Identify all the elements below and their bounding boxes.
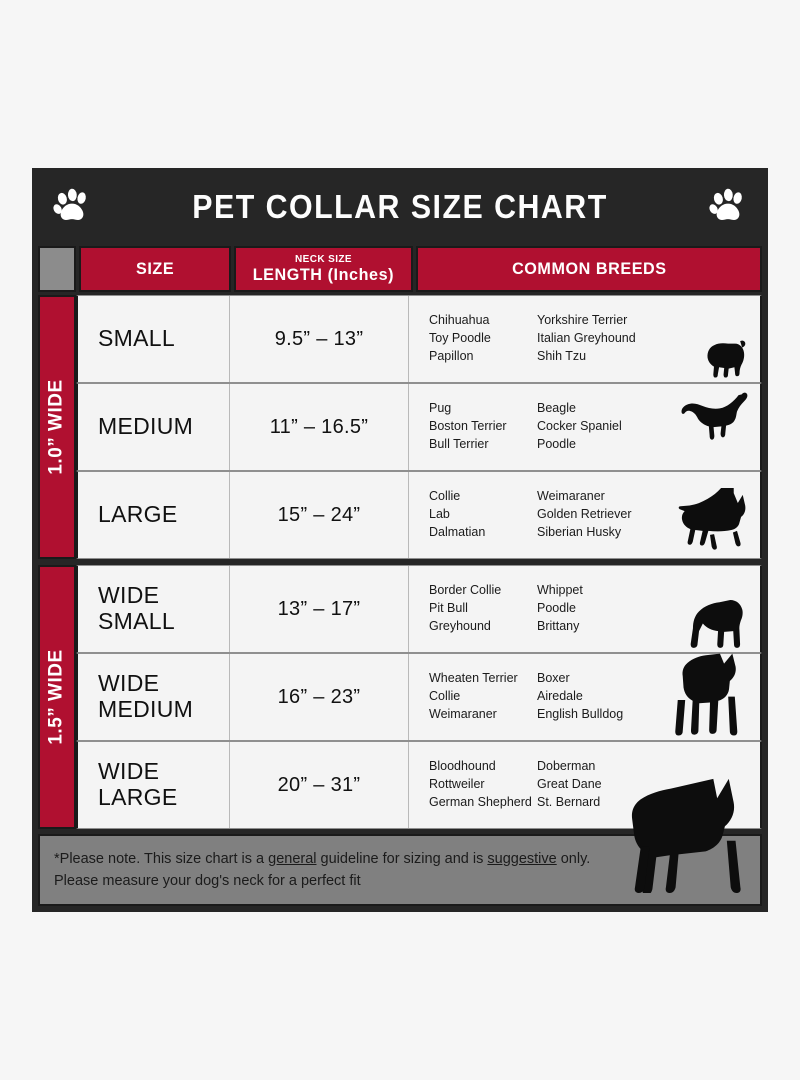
size-chart-card: PET COLLAR SIZE CHART SIZE: [32, 168, 768, 912]
length-value: 15” – 24”: [278, 504, 361, 527]
breed-item: Yorkshire Terrier: [537, 312, 636, 330]
breed-item: English Bulldog: [537, 706, 623, 724]
beagle-silhouette-icon: [666, 374, 758, 470]
footer-underline-suggestive: suggestive: [487, 851, 556, 867]
breed-column-1: Wheaten Terrier Collie Weimaraner: [429, 670, 537, 723]
section-rows-1-5-wide: WIDE SMALL 13” – 17” Border Collie Pit B…: [76, 565, 762, 829]
breed-column-2: Boxer Airedale English Bulldog: [537, 670, 623, 723]
length-value: 11” – 16.5”: [270, 416, 369, 439]
breed-item: Bloodhound: [429, 758, 537, 776]
chart-header: PET COLLAR SIZE CHART: [32, 168, 768, 246]
cell-breeds: Border Collie Pit Bull Greyhound Whippet…: [409, 566, 760, 652]
breed-item: Shih Tzu: [537, 348, 636, 366]
size-table: SIZE NECK SIZE LENGTH (Inches) COMMON BR…: [32, 246, 768, 829]
paw-print-icon: [706, 185, 750, 229]
breed-item: Collie: [429, 488, 537, 506]
breed-item: Cocker Spaniel: [537, 418, 622, 436]
footer-line-2: Please measure your dog's neck for a per…: [54, 870, 746, 892]
cell-length: 9.5” – 13”: [230, 296, 409, 382]
breed-item: Airedale: [537, 688, 623, 706]
footer-line1-part-c: only.: [557, 851, 591, 867]
breed-item: Chihuahua: [429, 312, 537, 330]
table-row[interactable]: WIDE LARGE 20” – 31” Bloodhound Rottweil…: [76, 741, 762, 829]
breed-item: Lab: [429, 506, 537, 524]
breed-item: Siberian Husky: [537, 524, 632, 542]
column-header-length: NECK SIZE LENGTH (Inches): [234, 246, 413, 292]
breed-item: Brittany: [537, 618, 583, 636]
table-row[interactable]: WIDE SMALL 13” – 17” Border Collie Pit B…: [76, 565, 762, 653]
footer-note: *Please note. This size chart is a gener…: [38, 834, 762, 906]
cell-size: LARGE: [78, 472, 230, 558]
size-label-line2: MEDIUM: [98, 697, 193, 723]
column-header-breeds-label: COMMON BREEDS: [512, 260, 667, 277]
breed-column-1: Border Collie Pit Bull Greyhound: [429, 582, 537, 635]
breed-item: Weimaraner: [537, 488, 632, 506]
length-value: 13” – 17”: [278, 598, 361, 621]
table-row[interactable]: LARGE 15” – 24” Collie Lab Dalmatian: [76, 471, 762, 559]
section-1-0-wide: 1.0” WIDE SMALL 9.5” – 13” Chihuahu: [38, 295, 762, 559]
breed-item: Dalmatian: [429, 524, 537, 542]
breed-column-2: Whippet Poodle Brittany: [537, 582, 583, 635]
size-label-line2: LARGE: [98, 785, 177, 811]
cell-size: WIDE SMALL: [78, 566, 230, 652]
page-root: PET COLLAR SIZE CHART SIZE: [0, 0, 800, 1080]
breed-column-1: Chihuahua Toy Poodle Papillon: [429, 312, 537, 365]
breed-item: Greyhound: [429, 618, 537, 636]
cell-breeds: Pug Boston Terrier Bull Terrier Beagle C…: [409, 384, 760, 470]
cell-size: SMALL: [78, 296, 230, 382]
size-label: MEDIUM: [98, 414, 193, 440]
cell-length: 11” – 16.5”: [230, 384, 409, 470]
breed-column-2: Beagle Cocker Spaniel Poodle: [537, 400, 622, 453]
column-header-breeds: COMMON BREEDS: [416, 246, 762, 292]
breed-item: Weimaraner: [429, 706, 537, 724]
footer-underline-general: general: [268, 851, 316, 867]
cell-size: WIDE LARGE: [78, 742, 230, 828]
breed-item: Italian Greyhound: [537, 330, 636, 348]
breed-item: Papillon: [429, 348, 537, 366]
cell-breeds: Wheaten Terrier Collie Weimaraner Boxer …: [409, 654, 760, 740]
breed-item: Wheaten Terrier: [429, 670, 537, 688]
shepherd-silhouette-icon: [662, 468, 758, 558]
breed-item: Rottweiler: [429, 776, 537, 794]
breed-column-2: Weimaraner Golden Retriever Siberian Hus…: [537, 488, 632, 541]
rail-label-1-5-wide: 1.5” WIDE: [46, 649, 68, 744]
size-label: WIDE: [98, 759, 159, 785]
breed-item: Collie: [429, 688, 537, 706]
breed-column-2: Doberman Great Dane St. Bernard: [537, 758, 602, 811]
rail-1-5-wide: 1.5” WIDE: [38, 565, 76, 829]
page-title: PET COLLAR SIZE CHART: [118, 188, 681, 226]
size-label: SMALL: [98, 326, 175, 352]
section-1-5-wide: 1.5” WIDE WIDE SMALL 13” – 17”: [38, 565, 762, 829]
column-header-length-sublabel: NECK SIZE: [295, 255, 352, 265]
bulldog-silhouette-icon: [672, 566, 758, 652]
breed-item: Border Collie: [429, 582, 537, 600]
cell-breeds: Bloodhound Rottweiler German Shepherd Do…: [409, 742, 760, 828]
breed-column-2: Yorkshire Terrier Italian Greyhound Shih…: [537, 312, 636, 365]
size-label: WIDE: [98, 583, 159, 609]
section-rows-1-0-wide: SMALL 9.5” – 13” Chihuahua Toy Poodle Pa…: [76, 295, 762, 559]
table-corner-cell: [38, 246, 76, 292]
column-header-size-label: SIZE: [136, 260, 174, 277]
breed-item: Beagle: [537, 400, 622, 418]
breed-item: Pug: [429, 400, 537, 418]
breed-item: Whippet: [537, 582, 583, 600]
footer-line1-part-b: guideline for sizing and is: [317, 851, 488, 867]
cell-length: 15” – 24”: [230, 472, 409, 558]
length-value: 20” – 31”: [278, 774, 361, 797]
table-row[interactable]: WIDE MEDIUM 16” – 23” Wheaten Terrier Co…: [76, 653, 762, 741]
paw-print-icon: [50, 185, 94, 229]
size-label: LARGE: [98, 502, 177, 528]
breed-item: Great Dane: [537, 776, 602, 794]
cell-breeds: Collie Lab Dalmatian Weimaraner Golden R…: [409, 472, 760, 558]
cell-size: MEDIUM: [78, 384, 230, 470]
cell-length: 20” – 31”: [230, 742, 409, 828]
table-row[interactable]: SMALL 9.5” – 13” Chihuahua Toy Poodle Pa…: [76, 295, 762, 383]
cell-size: WIDE MEDIUM: [78, 654, 230, 740]
pomeranian-silhouette-icon: [684, 296, 758, 382]
breed-item: Poodle: [537, 436, 622, 454]
footer-line-1: *Please note. This size chart is a gener…: [54, 848, 746, 870]
breed-item: St. Bernard: [537, 794, 602, 812]
breed-column-1: Collie Lab Dalmatian: [429, 488, 537, 541]
column-header-size: SIZE: [79, 246, 231, 292]
table-header-row: SIZE NECK SIZE LENGTH (Inches) COMMON BR…: [38, 246, 762, 292]
size-label-line2: SMALL: [98, 609, 175, 635]
size-label: WIDE: [98, 671, 159, 697]
breed-column-1: Bloodhound Rottweiler German Shepherd: [429, 758, 537, 811]
breed-item: Poodle: [537, 600, 583, 618]
cell-length: 16” – 23”: [230, 654, 409, 740]
cell-length: 13” – 17”: [230, 566, 409, 652]
cell-breeds: Chihuahua Toy Poodle Papillon Yorkshire …: [409, 296, 760, 382]
breed-item: Golden Retriever: [537, 506, 632, 524]
footer-line1-part-a: *Please note. This size chart is a: [54, 851, 268, 867]
length-value: 16” – 23”: [278, 686, 361, 709]
breed-item: German Shepherd: [429, 794, 537, 812]
breed-item: Doberman: [537, 758, 602, 776]
breed-item: Toy Poodle: [429, 330, 537, 348]
breed-item: Pit Bull: [429, 600, 537, 618]
breed-item: Boxer: [537, 670, 623, 688]
rail-1-0-wide: 1.0” WIDE: [38, 295, 76, 559]
length-value: 9.5” – 13”: [275, 328, 364, 351]
column-header-length-label: LENGTH (Inches): [253, 266, 394, 283]
boxer-silhouette-icon: [662, 639, 758, 740]
rail-label-1-0-wide: 1.0” WIDE: [46, 379, 68, 474]
breed-item: Boston Terrier: [429, 418, 537, 436]
breed-column-1: Pug Boston Terrier Bull Terrier: [429, 400, 537, 453]
breed-item: Bull Terrier: [429, 436, 537, 454]
table-row[interactable]: MEDIUM 11” – 16.5” Pug Boston Terrier Bu…: [76, 383, 762, 471]
